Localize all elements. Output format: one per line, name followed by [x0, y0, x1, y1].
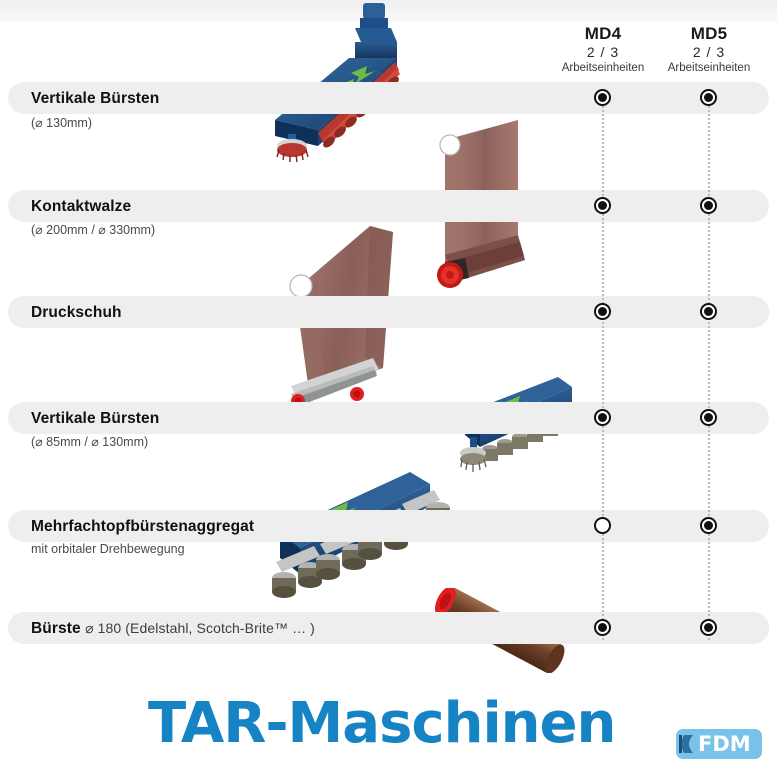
indicator-dot-md5-row4[interactable]	[700, 409, 717, 426]
fdm-watermark-text: FDM	[698, 734, 751, 755]
indicator-dot-md5-row3[interactable]	[700, 303, 717, 320]
column-units-md5: 2 / 3	[639, 44, 777, 61]
row-title-vertikale-buersten-85: Vertikale Bürsten	[31, 410, 159, 428]
indicator-dot-md4-row1[interactable]	[594, 89, 611, 106]
indicator-dot-md4-row5[interactable]	[594, 517, 611, 534]
column-unitlabel-md5: Arbeitseinheiten	[639, 61, 777, 75]
row-title-druckschuh: Druckschuh	[31, 304, 122, 322]
row-title-buerste-detail: ⌀ 180 (Edelstahl, Scotch-Brite™ … )	[85, 620, 315, 636]
indicator-dot-md5-row6[interactable]	[700, 619, 717, 636]
indicator-dot-md5-row5[interactable]	[700, 517, 717, 534]
indicator-dot-md4-row4[interactable]	[594, 409, 611, 426]
row-subtitle-mehrfachtopfbuerstenaggregat: mit orbitaler Drehbewegung	[31, 542, 185, 556]
fdm-watermark-logo: FDM	[676, 729, 762, 759]
row-title-vertikale-buersten-130: Vertikale Bürsten	[31, 90, 159, 108]
column-code-md5: MD5	[639, 24, 777, 44]
fdm-k-icon	[676, 729, 698, 759]
row-subtitle-kontaktwalze: (⌀ 200mm / ⌀ 330mm)	[31, 222, 155, 237]
indicator-dot-md4-row3[interactable]	[594, 303, 611, 320]
indicator-dot-md4-row6[interactable]	[594, 619, 611, 636]
row-subtitle-vertikale-buersten-85: (⌀ 85mm / ⌀ 130mm)	[31, 434, 148, 449]
indicator-dot-md4-row2[interactable]	[594, 197, 611, 214]
row-band	[8, 296, 769, 328]
indicator-dot-md5-row1[interactable]	[700, 89, 717, 106]
brand-title: TAR-Maschinen	[148, 694, 615, 754]
guide-line-md4	[602, 95, 604, 640]
row-subtitle-vertikale-buersten-130: (⌀ 130mm)	[31, 115, 92, 130]
indicator-dot-md5-row2[interactable]	[700, 197, 717, 214]
row-title-buerste-bold: Bürste	[31, 620, 81, 637]
row-title-kontaktwalze: Kontaktwalze	[31, 198, 131, 216]
column-header-md5: MD5 2 / 3 Arbeitseinheiten	[639, 24, 777, 75]
row-title-buerste: Bürste ⌀ 180 (Edelstahl, Scotch-Brite™ ……	[31, 620, 315, 638]
guide-line-md5	[708, 95, 710, 640]
row-title-mehrfachtopfbuerstenaggregat: Mehrfachtopfbürstenaggregat	[31, 518, 254, 536]
